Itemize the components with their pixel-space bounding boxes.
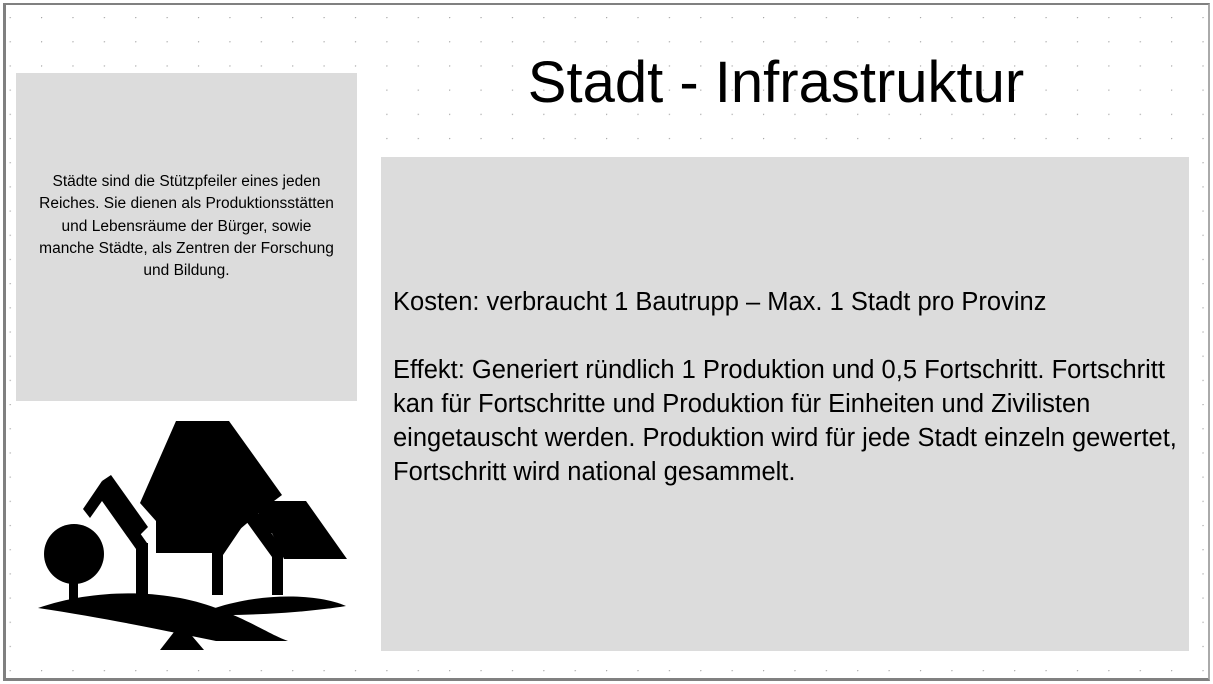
cost-text: Kosten: verbraucht 1 Bautrupp – Max. 1 S… xyxy=(393,285,1179,319)
village-houses-illustration xyxy=(16,403,357,655)
paragraph-spacer xyxy=(393,319,1179,353)
village-houses-silhouette-icon xyxy=(16,403,357,655)
slide-canvas: Stadt - Infrastruktur Städte sind die St… xyxy=(3,3,1210,681)
left-description-panel: Städte sind die Stützpfeiler eines jeden… xyxy=(16,73,357,401)
right-content-panel: Kosten: verbraucht 1 Bautrupp – Max. 1 S… xyxy=(381,157,1189,651)
slide-root: Stadt - Infrastruktur Städte sind die St… xyxy=(0,0,1213,684)
page-title: Stadt - Infrastruktur xyxy=(366,51,1186,115)
left-description-text: Städte sind die Stützpfeiler eines jeden… xyxy=(34,171,339,282)
right-content-body: Kosten: verbraucht 1 Bautrupp – Max. 1 S… xyxy=(393,285,1179,489)
effect-text: Effekt: Generiert ründlich 1 Produktion … xyxy=(393,353,1179,489)
